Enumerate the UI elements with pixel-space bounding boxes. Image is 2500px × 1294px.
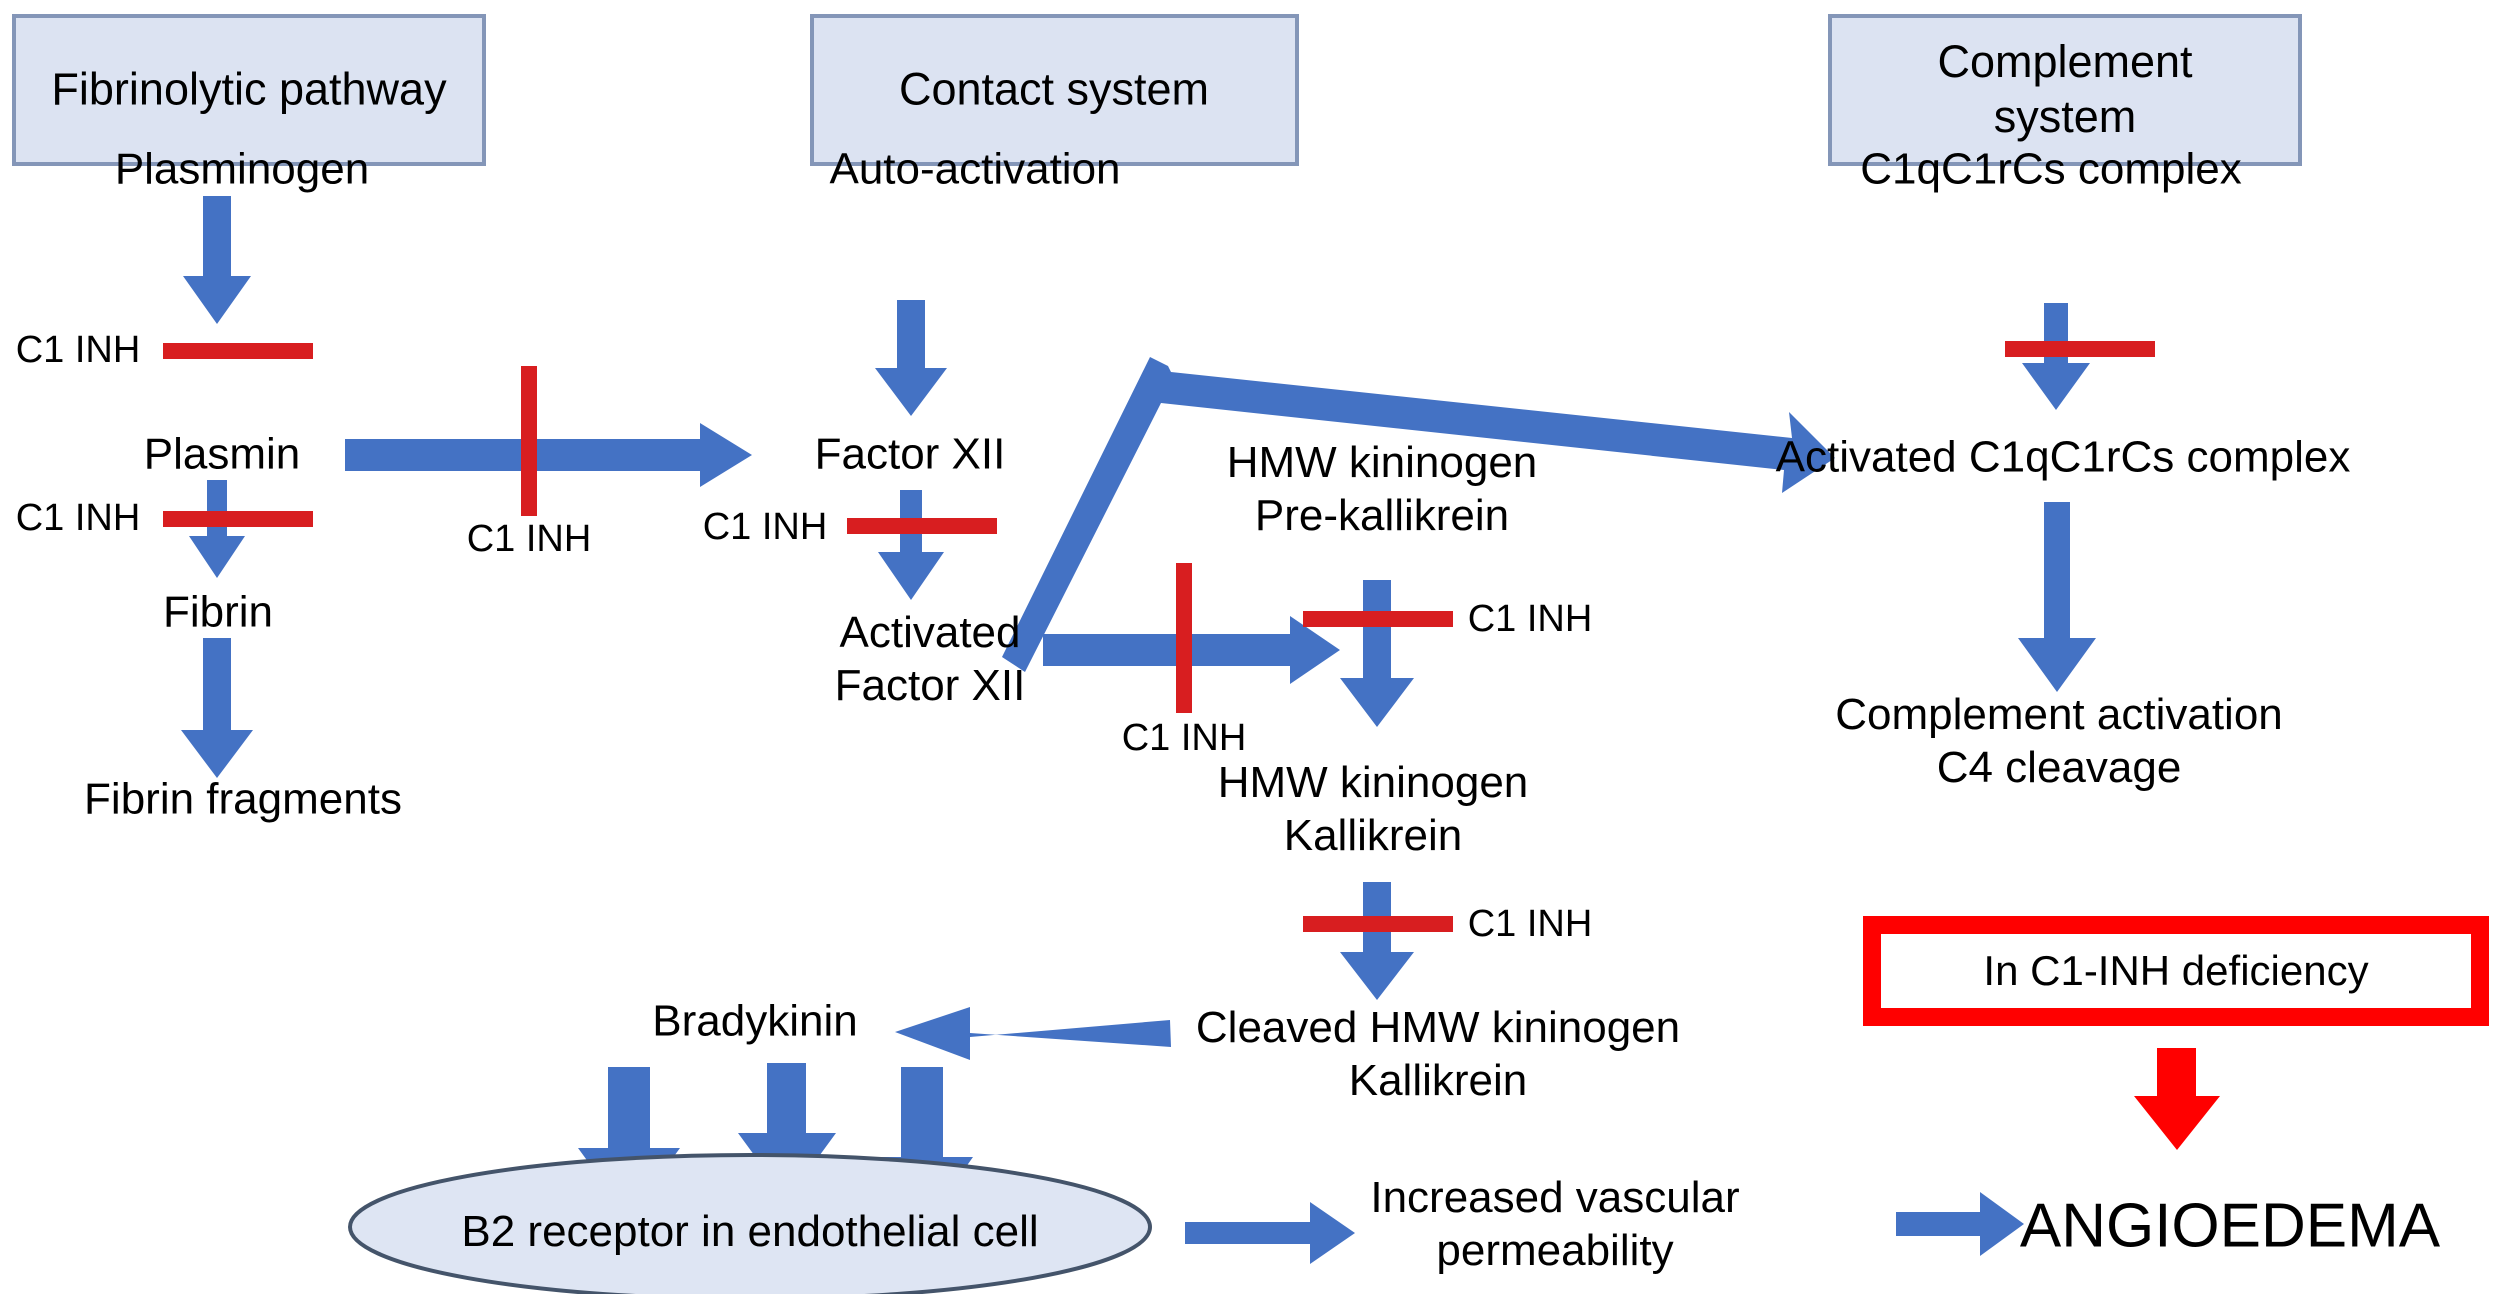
arrow-deficiency-to-angioedema: [2134, 1048, 2220, 1150]
pathway-diagram: Fibrinolytic pathway Contact system Comp…: [0, 0, 2500, 1294]
inhibitor-label-kallikrein-to-cleaved: C1 INH: [1468, 904, 1593, 946]
arrow-factorxii-to-activated: [878, 490, 944, 600]
arrow-cleaved-to-bradykinin: [895, 1007, 1171, 1060]
inhibitor-bar-plasmin-to-factorxii: [521, 366, 537, 516]
node-fibrin-fragments: Fibrin fragments: [84, 774, 402, 827]
inhibitor-label-plasmin-to-factorxii: C1 INH: [467, 519, 592, 561]
deficiency-box-label: In C1-INH deficiency: [1983, 947, 2368, 995]
header-label-contact: Contact system: [899, 63, 1209, 118]
node-cleaved-hmw-kallikrein: Cleaved HMW kininogen Kallikrein: [1196, 1002, 1680, 1108]
header-label-fibrinolytic: Fibrinolytic pathway: [51, 63, 446, 118]
inhibitor-bar-prekallikrein-to-kallikrein: [1303, 611, 1453, 627]
arrow-receptor-to-permeability: [1185, 1202, 1355, 1264]
inhibitor-bar-c1q-to-activated: [2005, 341, 2155, 357]
node-auto-activation: Auto-activation: [829, 144, 1120, 197]
inhibitor-bar-kallikrein-to-cleaved: [1303, 916, 1453, 932]
node-bradykinin: Bradykinin: [652, 996, 857, 1049]
node-hmw-kallikrein: HMW kininogen Kallikrein: [1218, 757, 1529, 863]
arrow-plasminogen-to-plasmin: [183, 196, 251, 324]
node-complement-activation: Complement activation C4 cleavage: [1835, 689, 2283, 795]
inhibitor-label-plasminogen-to-plasmin: C1 INH: [16, 330, 141, 372]
node-hmw-prekallikrein: HMW kininogen Pre-kallikrein: [1227, 437, 1538, 543]
inhibitor-label-factorxii-to-activated: C1 INH: [703, 507, 828, 549]
arrow-autoactivation-to-factorxii: [875, 300, 947, 416]
arrow-fibrin-to-fragments: [181, 638, 253, 778]
legend-arrow-blue: [1896, 1192, 2024, 1256]
inhibitor-bar-plasmin-to-fibrin: [163, 511, 313, 527]
b2-receptor-label: B2 receptor in endothelial cell: [461, 1207, 1038, 1257]
node-activated-c1qc1rcs-complex: Activated C1qC1rCs complex: [1776, 432, 2351, 485]
arrow-plasmin-to-fibrin: [189, 480, 245, 578]
inhibitor-bar-plasminogen-to-plasmin: [163, 343, 313, 359]
arrow-kallikrein-to-cleaved: [1340, 882, 1414, 1000]
node-plasminogen: Plasminogen: [115, 144, 369, 197]
arrow-prekallikrein-to-kallikrein: [1340, 580, 1414, 727]
node-fibrin: Fibrin: [163, 587, 273, 640]
arrow-activated-to-complement-activation: [2018, 502, 2096, 692]
inhibitor-label-plasmin-to-fibrin: C1 INH: [16, 498, 141, 540]
inhibitor-label-prekallikrein-to-kallikrein: C1 INH: [1468, 599, 1593, 641]
arrow-plasmin-to-factorxii: [345, 423, 752, 487]
node-increased-vascular-permeability: Increased vascular permeability: [1370, 1172, 1739, 1278]
angioedema-label: ANGIOEDEMA: [2020, 1191, 2440, 1262]
header-label-complement: Complement system: [1937, 35, 2192, 145]
inhibitor-bar-factorxii-to-activated: [847, 518, 997, 534]
inhibitor-bar-activated-to-hmw: [1176, 563, 1192, 713]
node-plasmin: Plasmin: [144, 429, 301, 482]
inhibitor-label-activated-to-hmw: C1 INH: [1122, 718, 1247, 760]
node-activated-factor-xii: Activated Factor XII: [835, 607, 1026, 713]
node-c1qc1rcs-complex: C1qC1rCs complex: [1860, 144, 2241, 197]
node-factor-xii: Factor XII: [815, 429, 1006, 482]
